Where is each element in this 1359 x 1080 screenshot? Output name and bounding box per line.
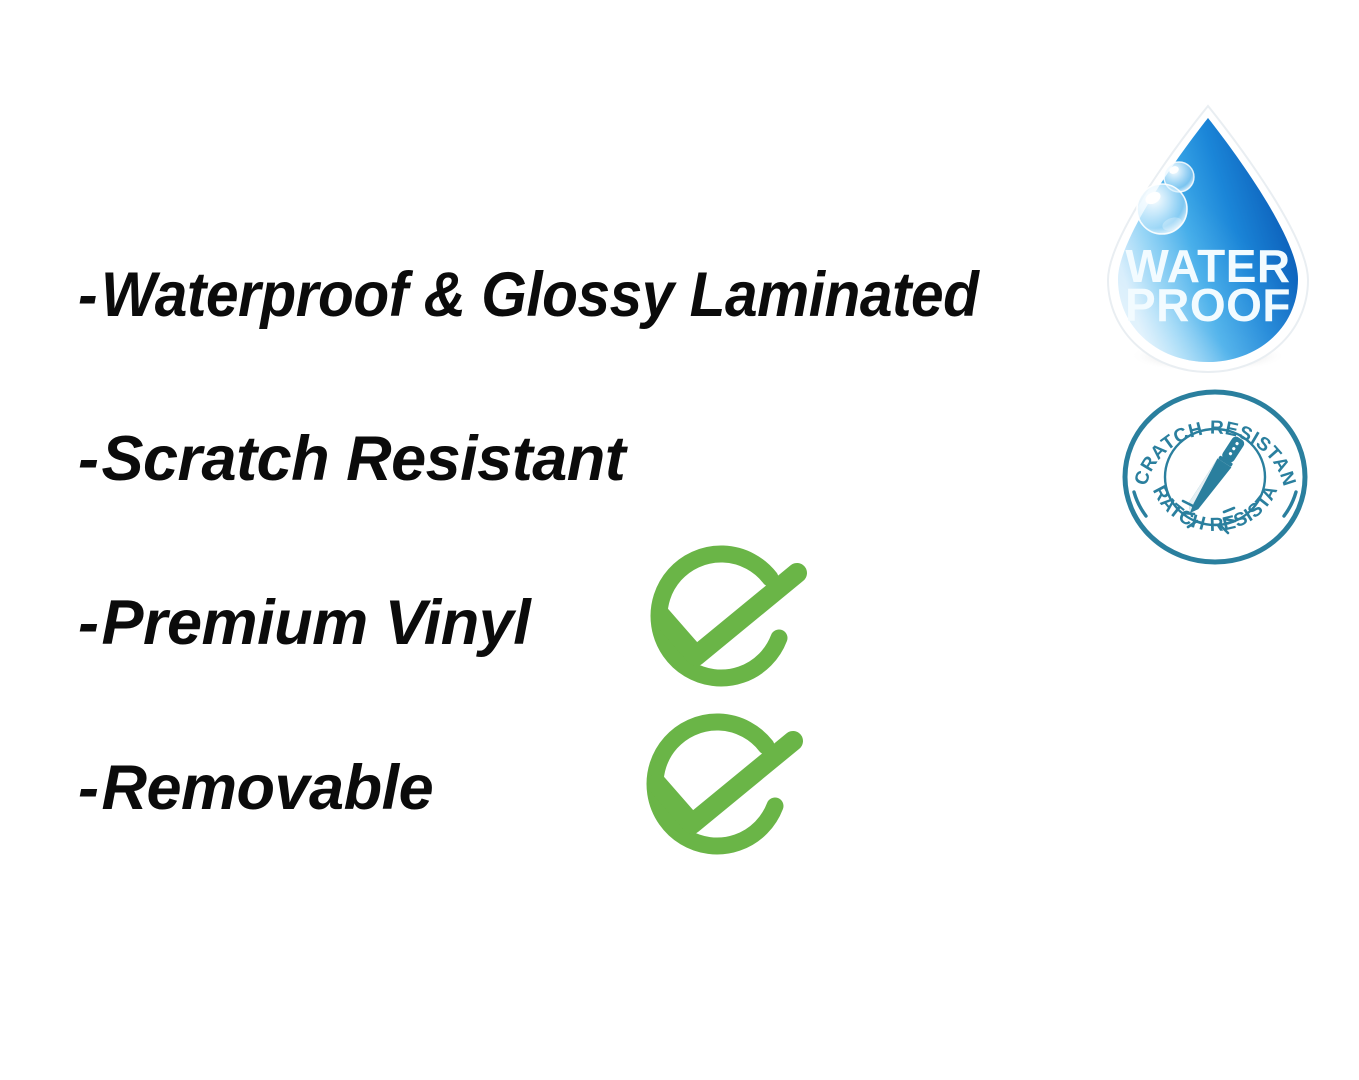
check-circle-ring bbox=[655, 722, 775, 846]
bullet-dash: - bbox=[78, 592, 98, 655]
feature-label: Removable bbox=[101, 757, 433, 820]
feature-label: Scratch Resistant bbox=[101, 428, 625, 491]
feature-item-scratch-resistant: - Scratch Resistant bbox=[78, 428, 625, 491]
feature-item-premium-vinyl: - Premium Vinyl bbox=[78, 592, 530, 655]
droplet-bubble-large bbox=[1137, 184, 1187, 234]
feature-label: Waterproof & Glossy Laminated bbox=[101, 264, 978, 327]
feature-item-removable: - Removable bbox=[78, 757, 433, 820]
scratch-resistant-seal: SCRATCH RESISTANT SCRATCH RESISTANT bbox=[1120, 388, 1310, 566]
green-check-circle-1 bbox=[636, 552, 846, 712]
poster-canvas: - Waterproof & Glossy Laminated - Scratc… bbox=[0, 0, 1359, 1080]
bullet-dash: - bbox=[78, 264, 97, 327]
waterproof-droplet-badge: WATER PROOF bbox=[1100, 104, 1316, 376]
check-circle-ring bbox=[659, 554, 779, 678]
bullet-dash: - bbox=[78, 757, 98, 820]
green-check-circle-2 bbox=[632, 720, 842, 880]
seal-arc-text-bottom: SCRATCH RESISTANT bbox=[1113, 372, 1283, 536]
bullet-dash: - bbox=[78, 428, 98, 491]
feature-item-waterproof: - Waterproof & Glossy Laminated bbox=[78, 264, 1045, 327]
waterproof-line2: PROOF bbox=[1125, 279, 1291, 331]
feature-list: - Waterproof & Glossy Laminated - Scratc… bbox=[0, 0, 1100, 1080]
feature-label: Premium Vinyl bbox=[101, 592, 530, 655]
